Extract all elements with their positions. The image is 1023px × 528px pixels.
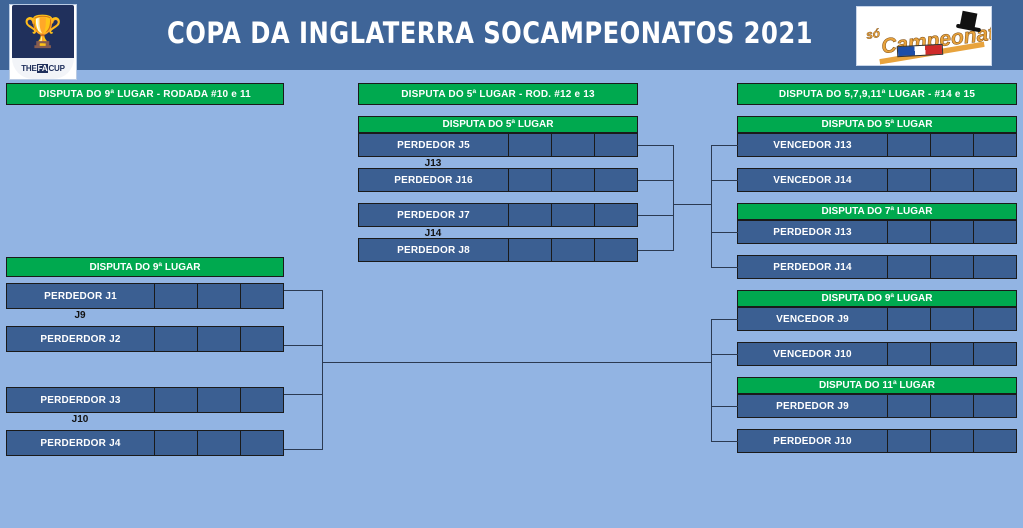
team-name: PERDEDOR J8: [359, 239, 509, 261]
score-cell-3[interactable]: [974, 169, 1016, 191]
score-cell-2[interactable]: [931, 134, 974, 156]
score-cell-2[interactable]: [198, 327, 241, 351]
connector-line: [673, 180, 674, 215]
connector-line: [711, 406, 738, 407]
score-cell-1[interactable]: [509, 239, 552, 261]
score-cell-1[interactable]: [888, 430, 931, 452]
score-cell-1[interactable]: [888, 395, 931, 417]
match-row[interactable]: PERDEDOR J1: [6, 283, 284, 309]
connector-line: [638, 145, 674, 146]
score-cell-2[interactable]: [931, 169, 974, 191]
match-row[interactable]: PERDEDOR J10: [737, 429, 1017, 453]
trophy-icon: 🏆: [10, 5, 76, 58]
match-row[interactable]: VENCEDOR J14: [737, 168, 1017, 192]
score-cell-1[interactable]: [888, 343, 931, 365]
team-name: PERDERDOR J2: [7, 327, 155, 351]
score-cell-2[interactable]: [198, 431, 241, 455]
fa-logo-the: THE: [21, 64, 36, 73]
bracket-page: 🏆 THEFACUP COPA DA INGLATERRA SOCAMPEONA…: [0, 0, 1023, 528]
score-cell-1[interactable]: [155, 431, 198, 455]
connector-line: [284, 345, 323, 346]
fa-logo-fa: FA: [37, 64, 49, 73]
team-name: PERDEDOR J13: [738, 221, 888, 243]
connector-line: [711, 441, 738, 442]
score-cell-2[interactable]: [552, 239, 595, 261]
connector-line: [711, 180, 738, 181]
match-row[interactable]: PERDEDOR J8: [358, 238, 638, 262]
section-title-left: DISPUTA DO 9ª LUGAR - RODADA #10 e 11: [6, 83, 284, 105]
score-cell-3[interactable]: [974, 308, 1016, 330]
team-name: VENCEDOR J14: [738, 169, 888, 191]
score-cell-2[interactable]: [931, 343, 974, 365]
connector-line: [322, 362, 712, 363]
match-row[interactable]: PERDEDOR J13: [737, 220, 1017, 244]
match-row[interactable]: PERDERDOR J4: [6, 430, 284, 456]
score-cell-2[interactable]: [931, 395, 974, 417]
right-group-header: DISPUTA DO 5ª LUGAR: [737, 116, 1017, 133]
logo-flag-icon: [897, 44, 944, 57]
score-cell-3[interactable]: [595, 134, 637, 156]
right-group-header: DISPUTA DO 11ª LUGAR: [737, 377, 1017, 394]
score-cell-3[interactable]: [974, 256, 1016, 278]
connector-line: [711, 267, 738, 268]
right-group-header: DISPUTA DO 7ª LUGAR: [737, 203, 1017, 220]
score-cell-2[interactable]: [931, 221, 974, 243]
right-group-header: DISPUTA DO 9ª LUGAR: [737, 290, 1017, 307]
score-cell-2[interactable]: [931, 430, 974, 452]
match-row[interactable]: PERDEDOR J7: [358, 203, 638, 227]
score-cell-3[interactable]: [595, 169, 637, 191]
score-cell-3[interactable]: [595, 239, 637, 261]
match-row[interactable]: VENCEDOR J9: [737, 307, 1017, 331]
connector-line: [638, 215, 674, 216]
connector-line: [711, 232, 738, 233]
score-cell-1[interactable]: [155, 284, 198, 308]
team-name: PERDEDOR J1: [7, 284, 155, 308]
connector-line: [322, 290, 323, 449]
connector-line: [711, 319, 712, 441]
team-name: VENCEDOR J10: [738, 343, 888, 365]
connector-line: [673, 204, 712, 205]
fa-logo-cup: CUP: [48, 64, 64, 73]
match-row[interactable]: PERDERDOR J3: [6, 387, 284, 413]
middle-group-header: DISPUTA DO 5ª LUGAR: [358, 116, 638, 133]
left-group-header: DISPUTA DO 9ª LUGAR: [6, 257, 284, 277]
page-title: COPA DA INGLATERRA SOCAMPEONATOS 2021: [146, 16, 834, 50]
score-cell-1[interactable]: [155, 327, 198, 351]
score-cell-1[interactable]: [888, 134, 931, 156]
score-cell-3[interactable]: [241, 284, 283, 308]
connector-line: [711, 145, 712, 267]
connector-line: [638, 180, 674, 181]
score-cell-3[interactable]: [974, 395, 1016, 417]
score-cell-3[interactable]: [241, 327, 283, 351]
fa-cup-wordmark: THEFACUP: [12, 58, 74, 79]
score-cell-1[interactable]: [509, 204, 552, 226]
socampeonatos-logo: só Campeonatos: [856, 6, 992, 66]
logo-so-text: só: [865, 26, 881, 42]
match-row[interactable]: VENCEDOR J10: [737, 342, 1017, 366]
fa-cup-logo: 🏆 THEFACUP: [9, 4, 77, 80]
match-code: J10: [6, 414, 154, 425]
match-row[interactable]: VENCEDOR J13: [737, 133, 1017, 157]
connector-line: [284, 449, 323, 450]
connector-line: [284, 290, 323, 291]
connector-line: [673, 145, 674, 180]
team-name: PERDERDOR J3: [7, 388, 155, 412]
team-name: PERDERDOR J4: [7, 431, 155, 455]
score-cell-3[interactable]: [974, 134, 1016, 156]
section-title-middle: DISPUTA DO 5ª LUGAR - ROD. #12 e 13: [358, 83, 638, 105]
score-cell-3[interactable]: [241, 388, 283, 412]
match-row[interactable]: PERDEDOR J14: [737, 255, 1017, 279]
score-cell-3[interactable]: [974, 343, 1016, 365]
match-code: J9: [6, 310, 154, 321]
match-row[interactable]: PERDERDOR J2: [6, 326, 284, 352]
score-cell-2[interactable]: [552, 134, 595, 156]
team-name: VENCEDOR J13: [738, 134, 888, 156]
score-cell-1[interactable]: [509, 134, 552, 156]
score-cell-3[interactable]: [595, 204, 637, 226]
team-name: VENCEDOR J9: [738, 308, 888, 330]
score-cell-3[interactable]: [241, 431, 283, 455]
connector-line: [638, 250, 674, 251]
match-row[interactable]: PERDEDOR J5: [358, 133, 638, 157]
score-cell-2[interactable]: [931, 256, 974, 278]
score-cell-1[interactable]: [888, 256, 931, 278]
score-cell-3[interactable]: [974, 221, 1016, 243]
team-name: PERDEDOR J9: [738, 395, 888, 417]
score-cell-1[interactable]: [888, 308, 931, 330]
match-row[interactable]: PERDEDOR J9: [737, 394, 1017, 418]
section-title-right: DISPUTA DO 5,7,9,11ª LUGAR - #14 e 15: [737, 83, 1017, 105]
connector-line: [284, 394, 323, 395]
score-cell-2[interactable]: [198, 388, 241, 412]
score-cell-3[interactable]: [974, 430, 1016, 452]
score-cell-2[interactable]: [198, 284, 241, 308]
team-name: PERDEDOR J5: [359, 134, 509, 156]
connector-line: [711, 354, 738, 355]
score-cell-2[interactable]: [552, 169, 595, 191]
score-cell-1[interactable]: [509, 169, 552, 191]
connector-line: [673, 215, 674, 250]
match-row[interactable]: PERDEDOR J16: [358, 168, 638, 192]
team-name: PERDEDOR J7: [359, 204, 509, 226]
score-cell-2[interactable]: [931, 308, 974, 330]
team-name: PERDEDOR J16: [359, 169, 509, 191]
connector-line: [711, 319, 738, 320]
score-cell-2[interactable]: [552, 204, 595, 226]
team-name: PERDEDOR J14: [738, 256, 888, 278]
score-cell-1[interactable]: [888, 221, 931, 243]
score-cell-1[interactable]: [888, 169, 931, 191]
score-cell-1[interactable]: [155, 388, 198, 412]
connector-line: [711, 145, 738, 146]
team-name: PERDEDOR J10: [738, 430, 888, 452]
